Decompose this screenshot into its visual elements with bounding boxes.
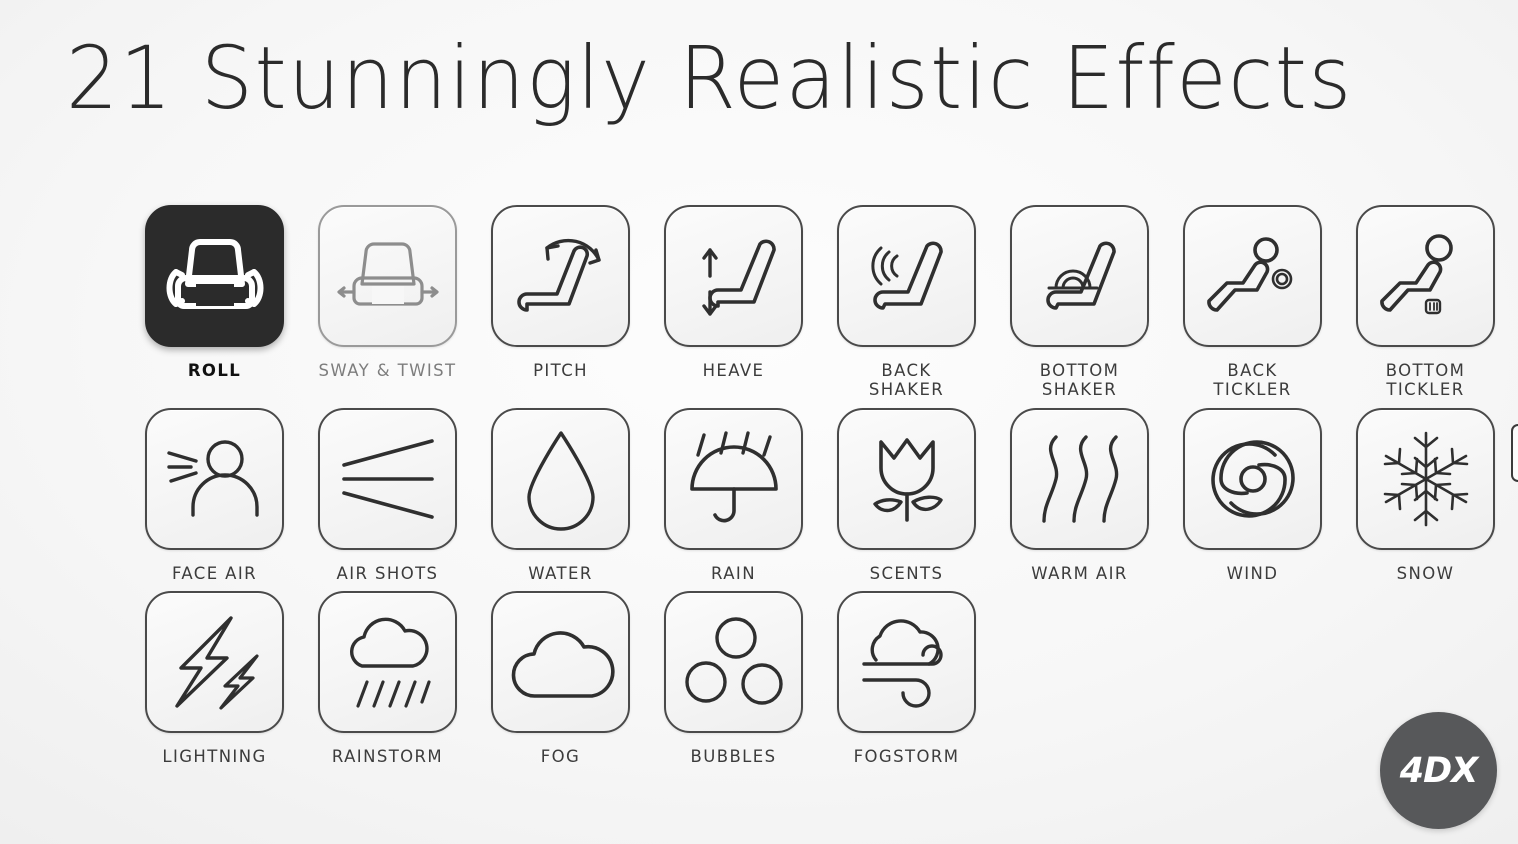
effect-cell-rain[interactable]: RAIN xyxy=(647,408,820,583)
effect-tile-snow[interactable] xyxy=(1356,408,1495,550)
face-air-icon xyxy=(163,431,267,527)
lightning-bolts-icon xyxy=(163,612,267,712)
effect-label-lightning: LIGHTNING xyxy=(162,747,266,766)
effect-tile-rain[interactable] xyxy=(664,408,803,550)
effect-cell-lightning[interactable]: LIGHTNING xyxy=(128,591,301,766)
effect-cell-scents[interactable]: SCENTS xyxy=(820,408,993,583)
effect-tile-fogstorm[interactable] xyxy=(837,591,976,733)
effect-cell-sway-twist[interactable]: SWAY & TWIST xyxy=(301,205,474,380)
cyclone-icon xyxy=(1203,429,1303,529)
effect-label-wind: WIND xyxy=(1227,564,1279,583)
effect-label-fog: FOG xyxy=(541,747,580,766)
effect-label-back-shaker: BACK SHAKER xyxy=(869,361,944,400)
effect-tile-air-shots[interactable] xyxy=(318,408,457,550)
effect-cell-face-air[interactable]: FACE AIR xyxy=(128,408,301,583)
effect-label-heave: HEAVE xyxy=(703,361,765,380)
effect-label-back-tickler: BACK TICKLER xyxy=(1213,361,1291,400)
cloud-icon xyxy=(507,618,615,706)
effect-cell-fog[interactable]: FOG xyxy=(474,591,647,766)
effect-cell-back-tickler[interactable]: BACK TICKLER xyxy=(1166,205,1339,400)
effects-row-1: ROLL SWAY & TWIST PITCH HEAVE BA xyxy=(128,205,1488,400)
snowflake-icon xyxy=(1376,429,1476,529)
seat-sway-icon xyxy=(336,228,440,324)
effect-label-air-shots: AIR SHOTS xyxy=(337,564,439,583)
seat-heave-icon xyxy=(684,226,784,326)
tulip-icon xyxy=(859,428,955,530)
effect-label-bottom-shaker: BOTTOM SHAKER xyxy=(1040,361,1120,400)
effect-tile-pitch[interactable] xyxy=(491,205,630,347)
effects-grid: ROLL SWAY & TWIST PITCH HEAVE BA xyxy=(128,205,1488,767)
effect-cell-fogstorm[interactable]: FOGSTORM xyxy=(820,591,993,766)
bubbles-icon xyxy=(684,614,784,710)
brand-logo-text: 4DX xyxy=(1400,751,1477,791)
effect-cell-water[interactable]: WATER xyxy=(474,408,647,583)
effect-cell-rainstorm[interactable]: RAINSTORM xyxy=(301,591,474,766)
cloud-rain-icon xyxy=(336,610,440,714)
effect-cell-heave[interactable]: HEAVE xyxy=(647,205,820,380)
effect-tile-back-tickler[interactable] xyxy=(1183,205,1322,347)
effect-cell-bubbles[interactable]: BUBBLES xyxy=(647,591,820,766)
effect-cell-wind[interactable]: WIND xyxy=(1166,408,1339,583)
effect-cell-bottom-tickler[interactable]: BOTTOM TICKLER xyxy=(1339,205,1512,400)
effects-row-3: LIGHTNING RAINSTORM FOG BUBBLES FOGSTORM xyxy=(128,591,1488,766)
effect-tile-heave[interactable] xyxy=(664,205,803,347)
effect-cell-back-shaker[interactable]: BACK SHAKER xyxy=(820,205,993,400)
effect-label-bubbles: BUBBLES xyxy=(691,747,777,766)
effect-tile-wind[interactable] xyxy=(1183,408,1322,550)
effect-label-snow: SNOW xyxy=(1397,564,1455,583)
effect-label-pitch: PITCH xyxy=(533,361,588,380)
effect-label-bottom-tickler: BOTTOM TICKLER xyxy=(1386,361,1466,400)
effect-cell-pitch[interactable]: PITCH xyxy=(474,205,647,380)
effect-label-water: WATER xyxy=(528,564,592,583)
effect-tile-fog[interactable] xyxy=(491,591,630,733)
effect-label-face-air: FACE AIR xyxy=(172,564,257,583)
effect-cell-warm-air[interactable]: WARM AIR xyxy=(993,408,1166,583)
effect-tile-warm-air[interactable] xyxy=(1010,408,1149,550)
effect-tile-face-air[interactable] xyxy=(145,408,284,550)
seat-roll-icon xyxy=(165,228,265,324)
water-drop-icon xyxy=(519,427,603,531)
offscreen-tile-edge xyxy=(1511,424,1518,482)
effect-tile-sway-twist[interactable] xyxy=(318,205,457,347)
effect-tile-roll[interactable] xyxy=(145,205,284,347)
effect-label-roll: ROLL xyxy=(188,361,241,380)
effect-tile-rainstorm[interactable] xyxy=(318,591,457,733)
effect-cell-air-shots[interactable]: AIR SHOTS xyxy=(301,408,474,583)
effect-cell-bottom-shaker[interactable]: BOTTOM SHAKER xyxy=(993,205,1166,400)
person-back-tickler-icon xyxy=(1203,226,1303,326)
effect-label-fogstorm: FOGSTORM xyxy=(854,747,960,766)
umbrella-rain-icon xyxy=(682,429,786,529)
effect-tile-back-shaker[interactable] xyxy=(837,205,976,347)
effect-tile-water[interactable] xyxy=(491,408,630,550)
seat-bottom-shaker-icon xyxy=(1030,226,1130,326)
seat-back-shaker-icon xyxy=(857,226,957,326)
air-shots-icon xyxy=(338,433,438,525)
effect-tile-bubbles[interactable] xyxy=(664,591,803,733)
effect-label-rain: RAIN xyxy=(711,564,756,583)
effect-label-rainstorm: RAINSTORM xyxy=(332,747,443,766)
effect-tile-bottom-shaker[interactable] xyxy=(1010,205,1149,347)
person-bottom-tickler-icon xyxy=(1376,226,1476,326)
brand-logo: 4DX xyxy=(1380,712,1497,829)
effect-label-scents: SCENTS xyxy=(870,564,944,583)
effect-cell-roll[interactable]: ROLL xyxy=(128,205,301,380)
effects-row-2: FACE AIR AIR SHOTS WATER RAIN SCENTS WAR… xyxy=(128,408,1488,583)
cloud-wind-icon xyxy=(854,612,960,712)
effect-cell-snow[interactable]: SNOW xyxy=(1339,408,1512,583)
effect-tile-bottom-tickler[interactable] xyxy=(1356,205,1495,347)
seat-pitch-icon xyxy=(511,226,611,326)
effect-tile-lightning[interactable] xyxy=(145,591,284,733)
effect-label-sway-twist: SWAY & TWIST xyxy=(319,361,457,380)
effect-label-warm-air: WARM AIR xyxy=(1031,564,1127,583)
effects-poster: 21 Stunningly Realistic Effects ROLL SWA… xyxy=(0,0,1518,844)
page-title: 21 Stunningly Realistic Effects xyxy=(66,36,1353,123)
effect-tile-scents[interactable] xyxy=(837,408,976,550)
heat-waves-icon xyxy=(1030,431,1130,527)
